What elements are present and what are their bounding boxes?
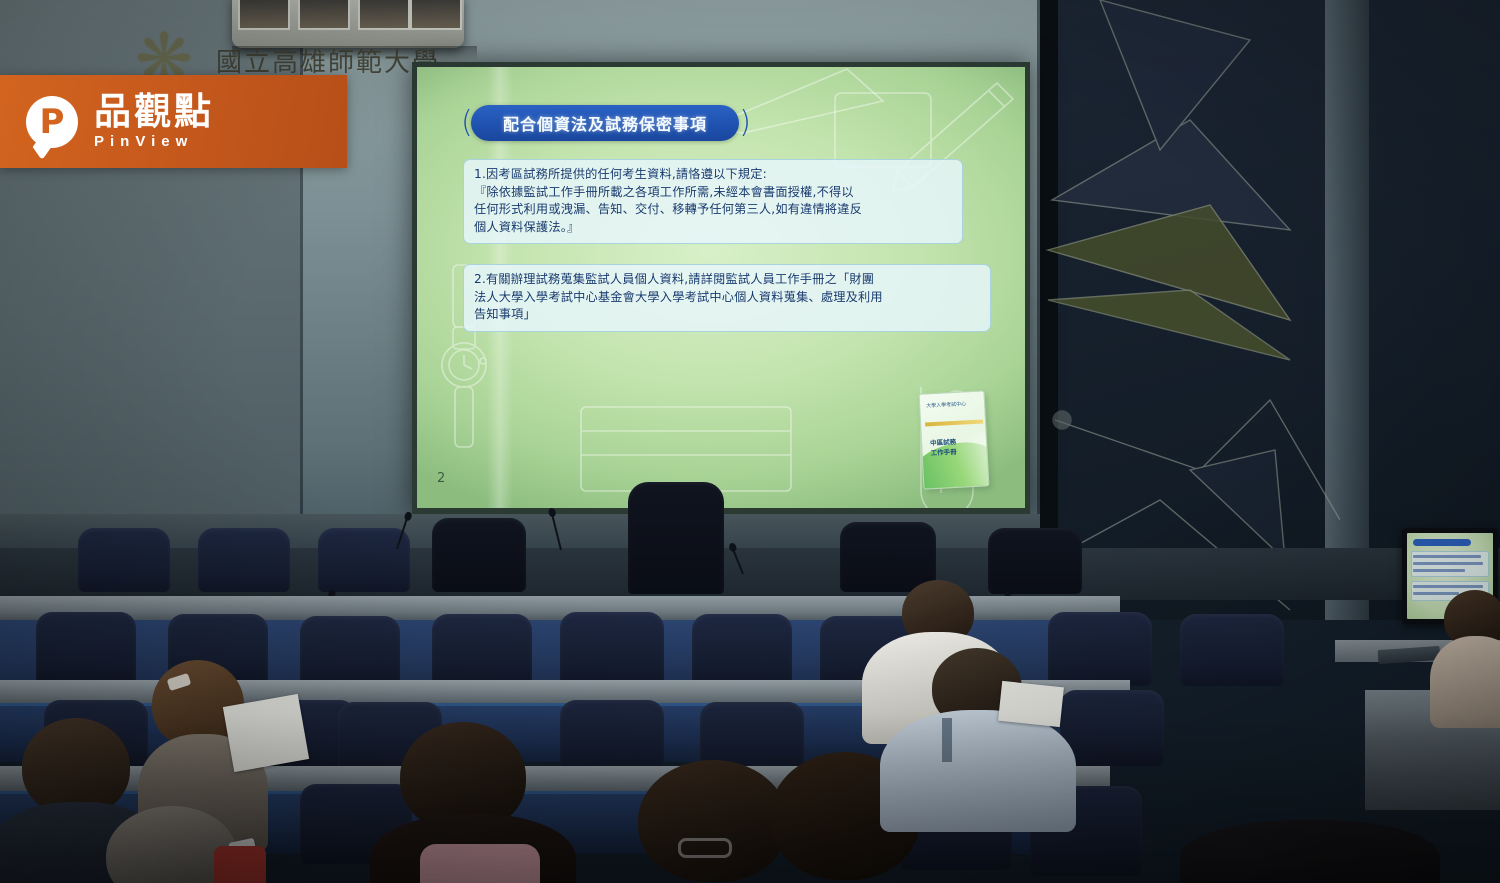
lanyard	[942, 718, 952, 762]
handbook-body-line1: 中區試務	[930, 438, 956, 447]
watermark-text: 品觀點 PinView	[94, 92, 214, 151]
slide-title-wrap: ( 配合個資法及試務保密事項 )	[461, 105, 751, 141]
slide-title: 配合個資法及試務保密事項	[471, 105, 739, 141]
projection-screen-frame: ( 配合個資法及試務保密事項 ) 1.因考區試務所提供的任何考生資料,請恪遵以下…	[412, 62, 1030, 514]
handbook-cover-graphic: 大學入學考試中心 中區試務 工作手冊	[919, 390, 990, 489]
title-paren-right: )	[739, 107, 751, 139]
slide-text-line: 個人資料保護法。』	[474, 219, 952, 237]
slide-text-line: 告知事項」	[474, 306, 980, 324]
stage-seat	[318, 528, 410, 592]
slide-text-line: 『除依據監試工作手冊所載之各項工作所需,未經本會書面授權,不得以	[474, 184, 952, 202]
pinview-logo-letter: P	[26, 96, 78, 148]
audience-person	[880, 648, 1070, 823]
red-garment	[214, 846, 266, 883]
audience-person	[1180, 820, 1440, 883]
audience-seat	[1180, 614, 1284, 686]
slide-text-block-2: 2.有關辦理試務蒐集監試人員個人資料,請詳閱監試人員工作手冊之「財團 法人大學入…	[463, 264, 991, 332]
presentation-slide: ( 配合個資法及試務保密事項 ) 1.因考區試務所提供的任何考生資料,請恪遵以下…	[417, 67, 1025, 508]
slide-text-block-1: 1.因考區試務所提供的任何考生資料,請恪遵以下規定: 『除依據監試工作手冊所載之…	[463, 159, 963, 244]
stage-seat	[78, 528, 170, 592]
audience-seat	[36, 612, 136, 684]
slide-page-number: 2	[437, 471, 445, 486]
handbook-header-text: 大學入學考試中心	[926, 401, 966, 410]
slide-text-line: 2.有關辦理試務蒐集監試人員個人資料,請詳閱監試人員工作手冊之「財團	[474, 271, 980, 289]
pink-garment	[420, 844, 540, 883]
monitor-slide-title-bar	[1413, 539, 1471, 546]
slide-text-line: 法人大學入學考試中心基金會大學入學考試中心個人資料蒐集、處理及利用	[474, 289, 980, 307]
printed-handout	[223, 694, 309, 772]
handbook-body-line2: 工作手冊	[930, 448, 956, 457]
slide-text-line: 任何形式利用或洩漏、告知、交付、移轉予任何第三人,如有違情將違反	[474, 201, 952, 219]
watermark-english: PinView	[94, 133, 214, 151]
stage-seat	[988, 528, 1082, 594]
operator-person	[1436, 590, 1500, 720]
screenshot-root: ❋ 國立高雄師範大學 National Normal U	[0, 0, 1500, 883]
printed-handout	[998, 681, 1064, 727]
right-wall-geometric-art	[1040, 0, 1500, 620]
eyeglasses-icon	[678, 838, 732, 858]
stage-seat-center	[628, 482, 724, 594]
geometric-line-art	[1040, 0, 1340, 620]
slide-text-line: 1.因考區試務所提供的任何考生資料,請恪遵以下規定:	[474, 166, 952, 184]
handbook-body-text: 中區試務 工作手冊	[930, 437, 957, 458]
watermark-chinese: 品觀點	[94, 92, 214, 132]
audience-seat	[300, 616, 400, 686]
stage-seat	[432, 518, 526, 592]
university-name-chinese: 國立高雄師範大學	[216, 42, 440, 79]
pinview-logo-icon: P	[26, 96, 78, 148]
audience-seat	[692, 614, 792, 686]
watermark-banner: P 品觀點 PinView	[0, 75, 347, 168]
audience-seat	[432, 614, 532, 684]
audience-seat	[1060, 690, 1164, 766]
stage-seat	[198, 528, 290, 592]
audience-seat	[560, 612, 664, 686]
